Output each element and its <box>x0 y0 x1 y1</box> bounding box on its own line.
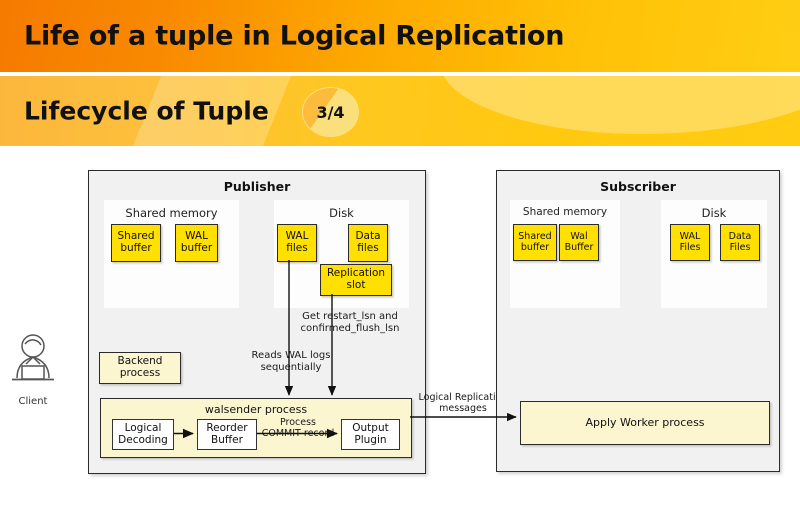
section-title: Lifecycle of Tuple <box>24 97 269 126</box>
page-title: Life of a tuple in Logical Replication <box>24 21 564 52</box>
subtitle-band: Lifecycle of Tuple <box>0 76 800 146</box>
title-band: Life of a tuple in Logical Replication <box>0 0 800 72</box>
decorative-swoosh <box>440 76 800 134</box>
diagram-canvas: Client Publisher Shared memory Shared bu… <box>0 146 800 529</box>
step-badge: 3/4 <box>303 88 358 136</box>
slide: Life of a tuple in Logical Replication L… <box>0 0 800 529</box>
arrow-layer <box>0 146 800 529</box>
